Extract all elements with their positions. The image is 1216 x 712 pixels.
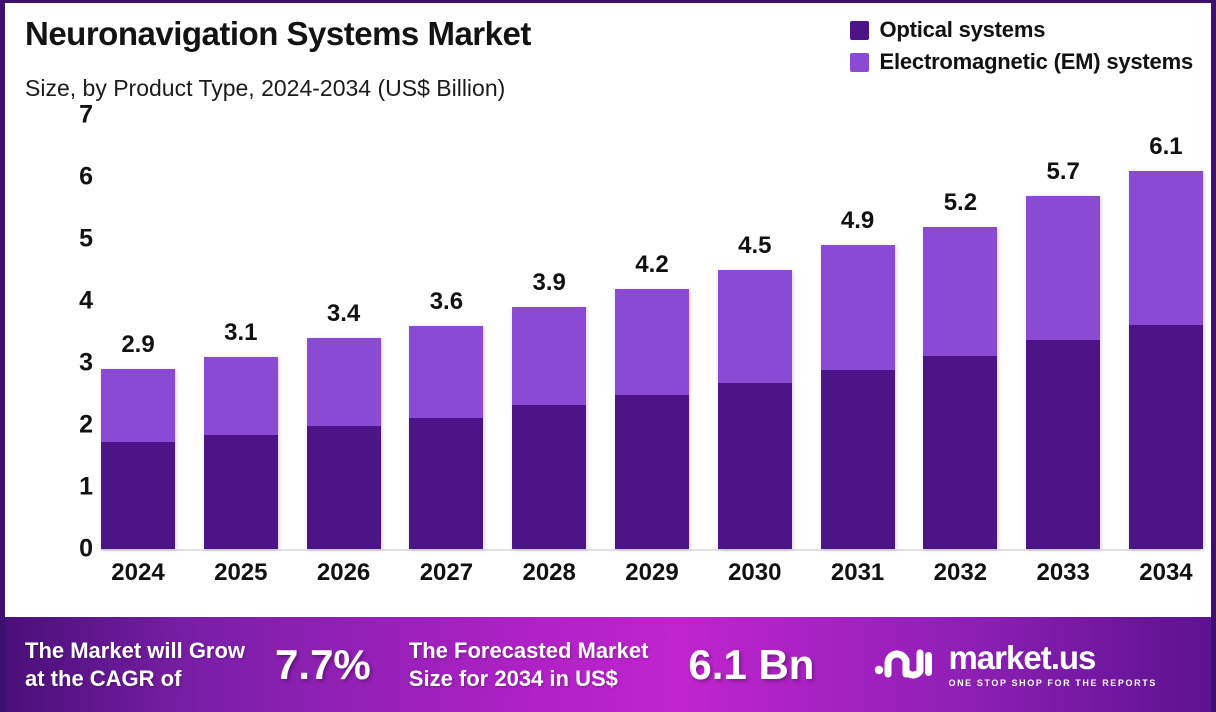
bar-segment-electromagnetic-2030[interactable] xyxy=(718,270,792,383)
page-subtitle: Size, by Product Type, 2024-2034 (US$ Bi… xyxy=(25,75,505,102)
bar-segment-electromagnetic-2028[interactable] xyxy=(512,307,586,405)
logo-word: market.us xyxy=(948,641,1095,674)
bar-group-2032[interactable]: 5.2 xyxy=(923,115,997,549)
bar-stack-2027[interactable] xyxy=(409,326,483,549)
bar-segment-electromagnetic-2024[interactable] xyxy=(101,369,175,442)
bar-value-label-2025: 3.1 xyxy=(224,319,257,347)
legend-item-electromagnetic[interactable]: Electromagnetic (EM) systems xyxy=(850,49,1193,75)
market-us-logo[interactable]: market.us ONE STOP SHOP FOR THE REPORTS xyxy=(874,640,1156,689)
bar-segment-electromagnetic-2031[interactable] xyxy=(821,245,895,370)
bar-group-2025[interactable]: 3.1 xyxy=(204,115,278,549)
cagr-label: The Market will Grow at the CAGR of xyxy=(25,637,245,692)
bar-stack-2030[interactable] xyxy=(718,270,792,549)
x-axis-label-2027: 2027 xyxy=(409,559,483,587)
logo-tagline: ONE STOP SHOP FOR THE REPORTS xyxy=(948,678,1156,688)
bar-value-label-2026: 3.4 xyxy=(327,300,360,328)
bar-segment-electromagnetic-2027[interactable] xyxy=(409,326,483,418)
bar-segment-optical-2034[interactable] xyxy=(1129,325,1203,549)
bar-segment-optical-2031[interactable] xyxy=(821,370,895,549)
x-axis-label-2031: 2031 xyxy=(821,559,895,587)
x-axis-label-2034: 2034 xyxy=(1129,559,1203,587)
bar-group-2028[interactable]: 3.9 xyxy=(512,115,586,549)
bar-stack-2032[interactable] xyxy=(923,227,997,549)
y-axis-tick-4: 4 xyxy=(53,287,93,316)
y-axis-tick-1: 1 xyxy=(53,473,93,502)
bar-segment-electromagnetic-2034[interactable] xyxy=(1129,171,1203,325)
cagr-label-line1: The Market will Grow xyxy=(25,637,245,665)
bar-segment-electromagnetic-2032[interactable] xyxy=(923,227,997,357)
legend-label-optical: Optical systems xyxy=(879,17,1045,43)
legend-swatch-icon xyxy=(850,53,869,72)
bar-segment-electromagnetic-2025[interactable] xyxy=(204,357,278,435)
legend-swatch-icon xyxy=(850,21,869,40)
bar-segment-optical-2024[interactable] xyxy=(101,442,175,549)
cagr-value: 7.7% xyxy=(275,641,371,689)
y-axis-tick-5: 5 xyxy=(53,225,93,254)
cagr-label-line2: at the CAGR of xyxy=(25,665,245,693)
bar-segment-optical-2025[interactable] xyxy=(204,435,278,549)
bar-group-2024[interactable]: 2.9 xyxy=(101,115,175,549)
bar-value-label-2034: 6.1 xyxy=(1149,133,1182,161)
page-title: Neuronavigation Systems Market xyxy=(25,15,531,53)
legend-item-optical[interactable]: Optical systems xyxy=(850,17,1045,43)
y-axis-tick-2: 2 xyxy=(53,411,93,440)
legend-label-electromagnetic: Electromagnetic (EM) systems xyxy=(879,49,1193,75)
bar-group-2027[interactable]: 3.6 xyxy=(409,115,483,549)
bar-segment-electromagnetic-2033[interactable] xyxy=(1026,196,1100,340)
forecast-label-line1: The Forecasted Market xyxy=(409,637,649,665)
bar-stack-2026[interactable] xyxy=(307,338,381,549)
market-us-wordmark: market.us ONE STOP SHOP FOR THE REPORTS xyxy=(948,641,1156,688)
chart-plot-area: 76543210 2.93.13.43.63.94.24.54.95.25.76… xyxy=(5,115,1211,607)
bar-group-2034[interactable]: 6.1 xyxy=(1129,115,1203,549)
cagr-value-block: 7.7% xyxy=(275,641,371,689)
forecast-label: The Forecasted Market Size for 2034 in U… xyxy=(409,637,649,692)
bar-group-2030[interactable]: 4.5 xyxy=(718,115,792,549)
bar-segment-optical-2033[interactable] xyxy=(1026,340,1100,549)
bar-segment-optical-2026[interactable] xyxy=(307,426,381,549)
market-us-mark-icon xyxy=(874,640,936,689)
bar-value-label-2029: 4.2 xyxy=(635,251,668,279)
bar-segment-optical-2030[interactable] xyxy=(718,383,792,549)
x-axis-label-2033: 2033 xyxy=(1026,559,1100,587)
bar-segment-optical-2029[interactable] xyxy=(615,395,689,549)
bar-group-2029[interactable]: 4.2 xyxy=(615,115,689,549)
chart-legend: Optical systems Electromagnetic (EM) sys… xyxy=(850,17,1193,75)
bar-value-label-2027: 3.6 xyxy=(430,288,463,316)
bar-value-label-2033: 5.7 xyxy=(1046,158,1079,186)
bar-stack-2033[interactable] xyxy=(1026,196,1100,549)
bar-group-2033[interactable]: 5.7 xyxy=(1026,115,1100,549)
x-axis-label-2024: 2024 xyxy=(101,559,175,587)
y-axis-tick-7: 7 xyxy=(53,101,93,130)
bar-stack-2028[interactable] xyxy=(512,307,586,549)
x-axis-label-2026: 2026 xyxy=(307,559,381,587)
bar-value-label-2031: 4.9 xyxy=(841,207,874,235)
x-axis-label-2028: 2028 xyxy=(512,559,586,587)
bar-group-2026[interactable]: 3.4 xyxy=(307,115,381,549)
forecast-value-block: 6.1 Bn xyxy=(688,641,814,689)
forecast-label-line2: Size for 2034 in US$ xyxy=(409,665,649,693)
y-axis-tick-6: 6 xyxy=(53,163,93,192)
bar-segment-electromagnetic-2026[interactable] xyxy=(307,338,381,426)
x-axis-label-2029: 2029 xyxy=(615,559,689,587)
summary-banner: The Market will Grow at the CAGR of 7.7%… xyxy=(5,617,1211,712)
forecast-value: 6.1 Bn xyxy=(688,641,814,689)
x-axis-label-2025: 2025 xyxy=(204,559,278,587)
bar-segment-electromagnetic-2029[interactable] xyxy=(615,289,689,395)
bar-stack-2029[interactable] xyxy=(615,289,689,549)
bar-stack-2025[interactable] xyxy=(204,357,278,549)
infographic-root: Neuronavigation Systems Market Size, by … xyxy=(0,0,1216,712)
chart-header: Neuronavigation Systems Market Size, by … xyxy=(5,3,1211,115)
x-axis-labels: 2024202520262027202820292030203120322033… xyxy=(101,559,1203,587)
x-axis-line xyxy=(101,549,1201,551)
y-axis-tick-0: 0 xyxy=(53,535,93,564)
x-axis-label-2030: 2030 xyxy=(718,559,792,587)
x-axis-label-2032: 2032 xyxy=(923,559,997,587)
bar-group-2031[interactable]: 4.9 xyxy=(821,115,895,549)
bar-stack-2034[interactable] xyxy=(1129,171,1203,549)
bar-value-label-2024: 2.9 xyxy=(121,331,154,359)
bar-series-container: 2.93.13.43.63.94.24.54.95.25.76.1 xyxy=(101,115,1203,549)
bar-segment-optical-2027[interactable] xyxy=(409,418,483,549)
bar-stack-2031[interactable] xyxy=(821,245,895,549)
forecast-label-block: The Forecasted Market Size for 2034 in U… xyxy=(409,637,649,692)
bar-value-label-2028: 3.9 xyxy=(533,269,566,297)
bar-value-label-2032: 5.2 xyxy=(944,189,977,217)
bar-stack-2024[interactable] xyxy=(101,369,175,549)
bar-segment-optical-2028[interactable] xyxy=(512,405,586,549)
bar-segment-optical-2032[interactable] xyxy=(923,356,997,549)
y-axis-tick-3: 3 xyxy=(53,349,93,378)
y-axis: 76543210 xyxy=(53,115,93,555)
bar-value-label-2030: 4.5 xyxy=(738,232,771,260)
cagr-label-block: The Market will Grow at the CAGR of xyxy=(25,637,245,692)
